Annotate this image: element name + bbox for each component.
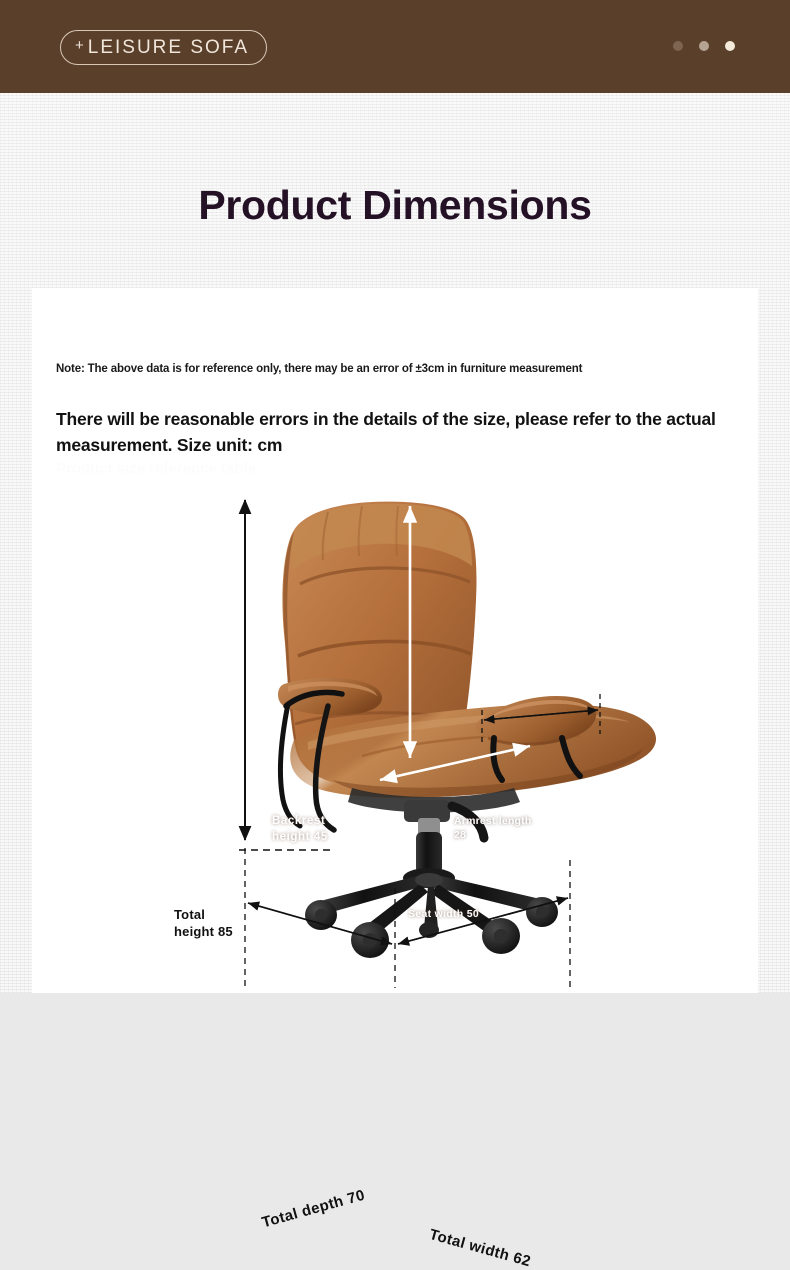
carousel-dot-3[interactable] [725,41,735,51]
chair-illustration [32,488,758,988]
caster-wheel [305,900,337,930]
label-armrest-length: Armrest length 28 [454,814,531,842]
label-total-depth: Total depth 70 [260,1187,367,1232]
measurement-note: Note: The above data is for reference on… [56,363,736,375]
carousel-dot-2[interactable] [699,41,709,51]
caster-wheel [351,922,389,958]
plus-icon: + [75,37,86,54]
page-root: + LEISURE SOFA Product Dimensions Note: … [0,0,790,993]
page-title: Product Dimensions [0,182,790,229]
caster-wheel [482,918,520,954]
label-total-width: Total width 62 [427,1226,532,1270]
label-backrest-height: Backrest height 45 [272,813,328,845]
carousel-dot-1[interactable] [673,41,683,51]
brand-badge[interactable]: + LEISURE SOFA [60,30,267,65]
label-seat-width: Seat width 50 [408,908,479,920]
brand-label: LEISURE SOFA [88,37,249,59]
header-bar: + LEISURE SOFA [0,0,790,93]
measurement-disclaimer: There will be reasonable errors in the d… [56,406,716,458]
content-card: Note: The above data is for reference on… [32,288,758,993]
dimension-diagram: Total height 85 Backrest height 45 Armre… [32,488,758,988]
label-total-height: Total height 85 [174,906,233,940]
carousel-indicator[interactable] [673,41,735,51]
faint-watermark-text: Product size reference table [56,460,386,480]
